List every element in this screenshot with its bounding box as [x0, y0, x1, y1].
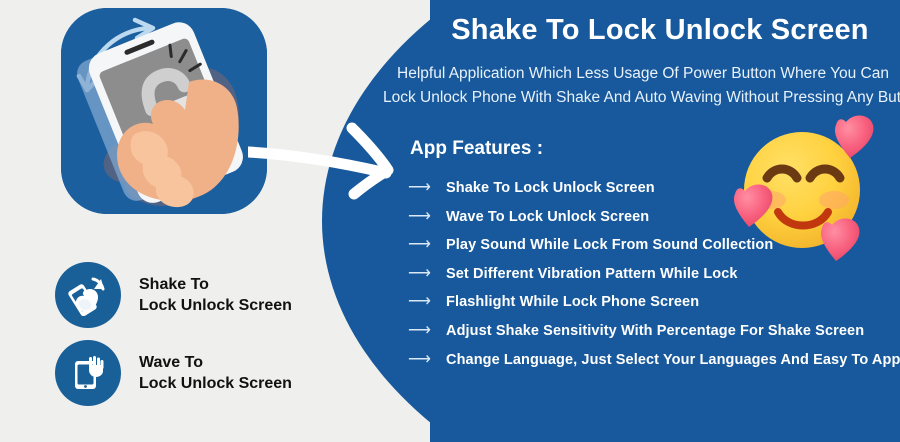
arrow-right-icon: ⟶: [408, 237, 446, 253]
arrow-right-icon: ⟶: [408, 180, 446, 196]
feature-badge-wave[interactable]: Wave To Lock Unlock Screen: [55, 340, 292, 406]
list-item: ⟶ Change Language, Just Select Your Lang…: [408, 352, 900, 381]
feature-badge-wave-label: Wave To Lock Unlock Screen: [139, 352, 292, 394]
subtitle-line-2: Lock Unlock Phone With Shake And Auto Wa…: [383, 86, 900, 110]
feature-label: Adjust Shake Sensitivity With Percentage…: [446, 323, 864, 339]
arrow-right-icon: ⟶: [408, 352, 446, 368]
wave-hand-phone-glyph: [67, 352, 109, 394]
arrow-right-icon: ⟶: [408, 323, 446, 339]
arrow-right-icon: ⟶: [408, 209, 446, 225]
feature-badge-shake-label: Shake To Lock Unlock Screen: [139, 274, 292, 316]
feature-label: Wave To Lock Unlock Screen: [446, 209, 649, 225]
arrow-right-icon: ⟶: [408, 266, 446, 282]
badge-wave-line1: Wave To: [139, 354, 203, 371]
badge-shake-line2: Lock Unlock Screen: [139, 297, 292, 314]
arrow-right-icon: ⟶: [408, 294, 446, 310]
feature-label: Change Language, Just Select Your Langua…: [446, 352, 900, 368]
list-item: ⟶ Shake To Lock Unlock Screen: [408, 180, 900, 209]
shake-hand-phone-icon: [55, 262, 121, 328]
page-title: Shake To Lock Unlock Screen: [420, 14, 900, 47]
promo-banner: Shake To Lock Unlock Screen Wave To Lo: [0, 0, 900, 442]
page-subtitle: Helpful Application Which Less Usage Of …: [383, 62, 900, 110]
list-item: ⟶ Play Sound While Lock From Sound Colle…: [408, 237, 900, 266]
features-list: ⟶ Shake To Lock Unlock Screen ⟶ Wave To …: [408, 180, 900, 380]
feature-label: Set Different Vibration Pattern While Lo…: [446, 266, 738, 282]
badge-wave-line2: Lock Unlock Screen: [139, 375, 292, 392]
list-item: ⟶ Set Different Vibration Pattern While …: [408, 266, 900, 295]
feature-label: Play Sound While Lock From Sound Collect…: [446, 237, 773, 253]
app-icon[interactable]: [61, 8, 267, 214]
badge-shake-line1: Shake To: [139, 276, 209, 293]
shake-hand-phone-glyph: [67, 274, 109, 316]
feature-label: Shake To Lock Unlock Screen: [446, 180, 655, 196]
app-icon-illustration: [61, 8, 267, 214]
subtitle-line-1: Helpful Application Which Less Usage Of …: [383, 62, 900, 86]
list-item: ⟶ Wave To Lock Unlock Screen: [408, 209, 900, 238]
wave-hand-phone-icon: [55, 340, 121, 406]
list-item: ⟶ Flashlight While Lock Phone Screen: [408, 294, 900, 323]
features-heading: App Features :: [410, 138, 543, 160]
list-item: ⟶ Adjust Shake Sensitivity With Percenta…: [408, 323, 900, 352]
feature-label: Flashlight While Lock Phone Screen: [446, 294, 699, 310]
feature-badge-shake[interactable]: Shake To Lock Unlock Screen: [55, 262, 292, 328]
